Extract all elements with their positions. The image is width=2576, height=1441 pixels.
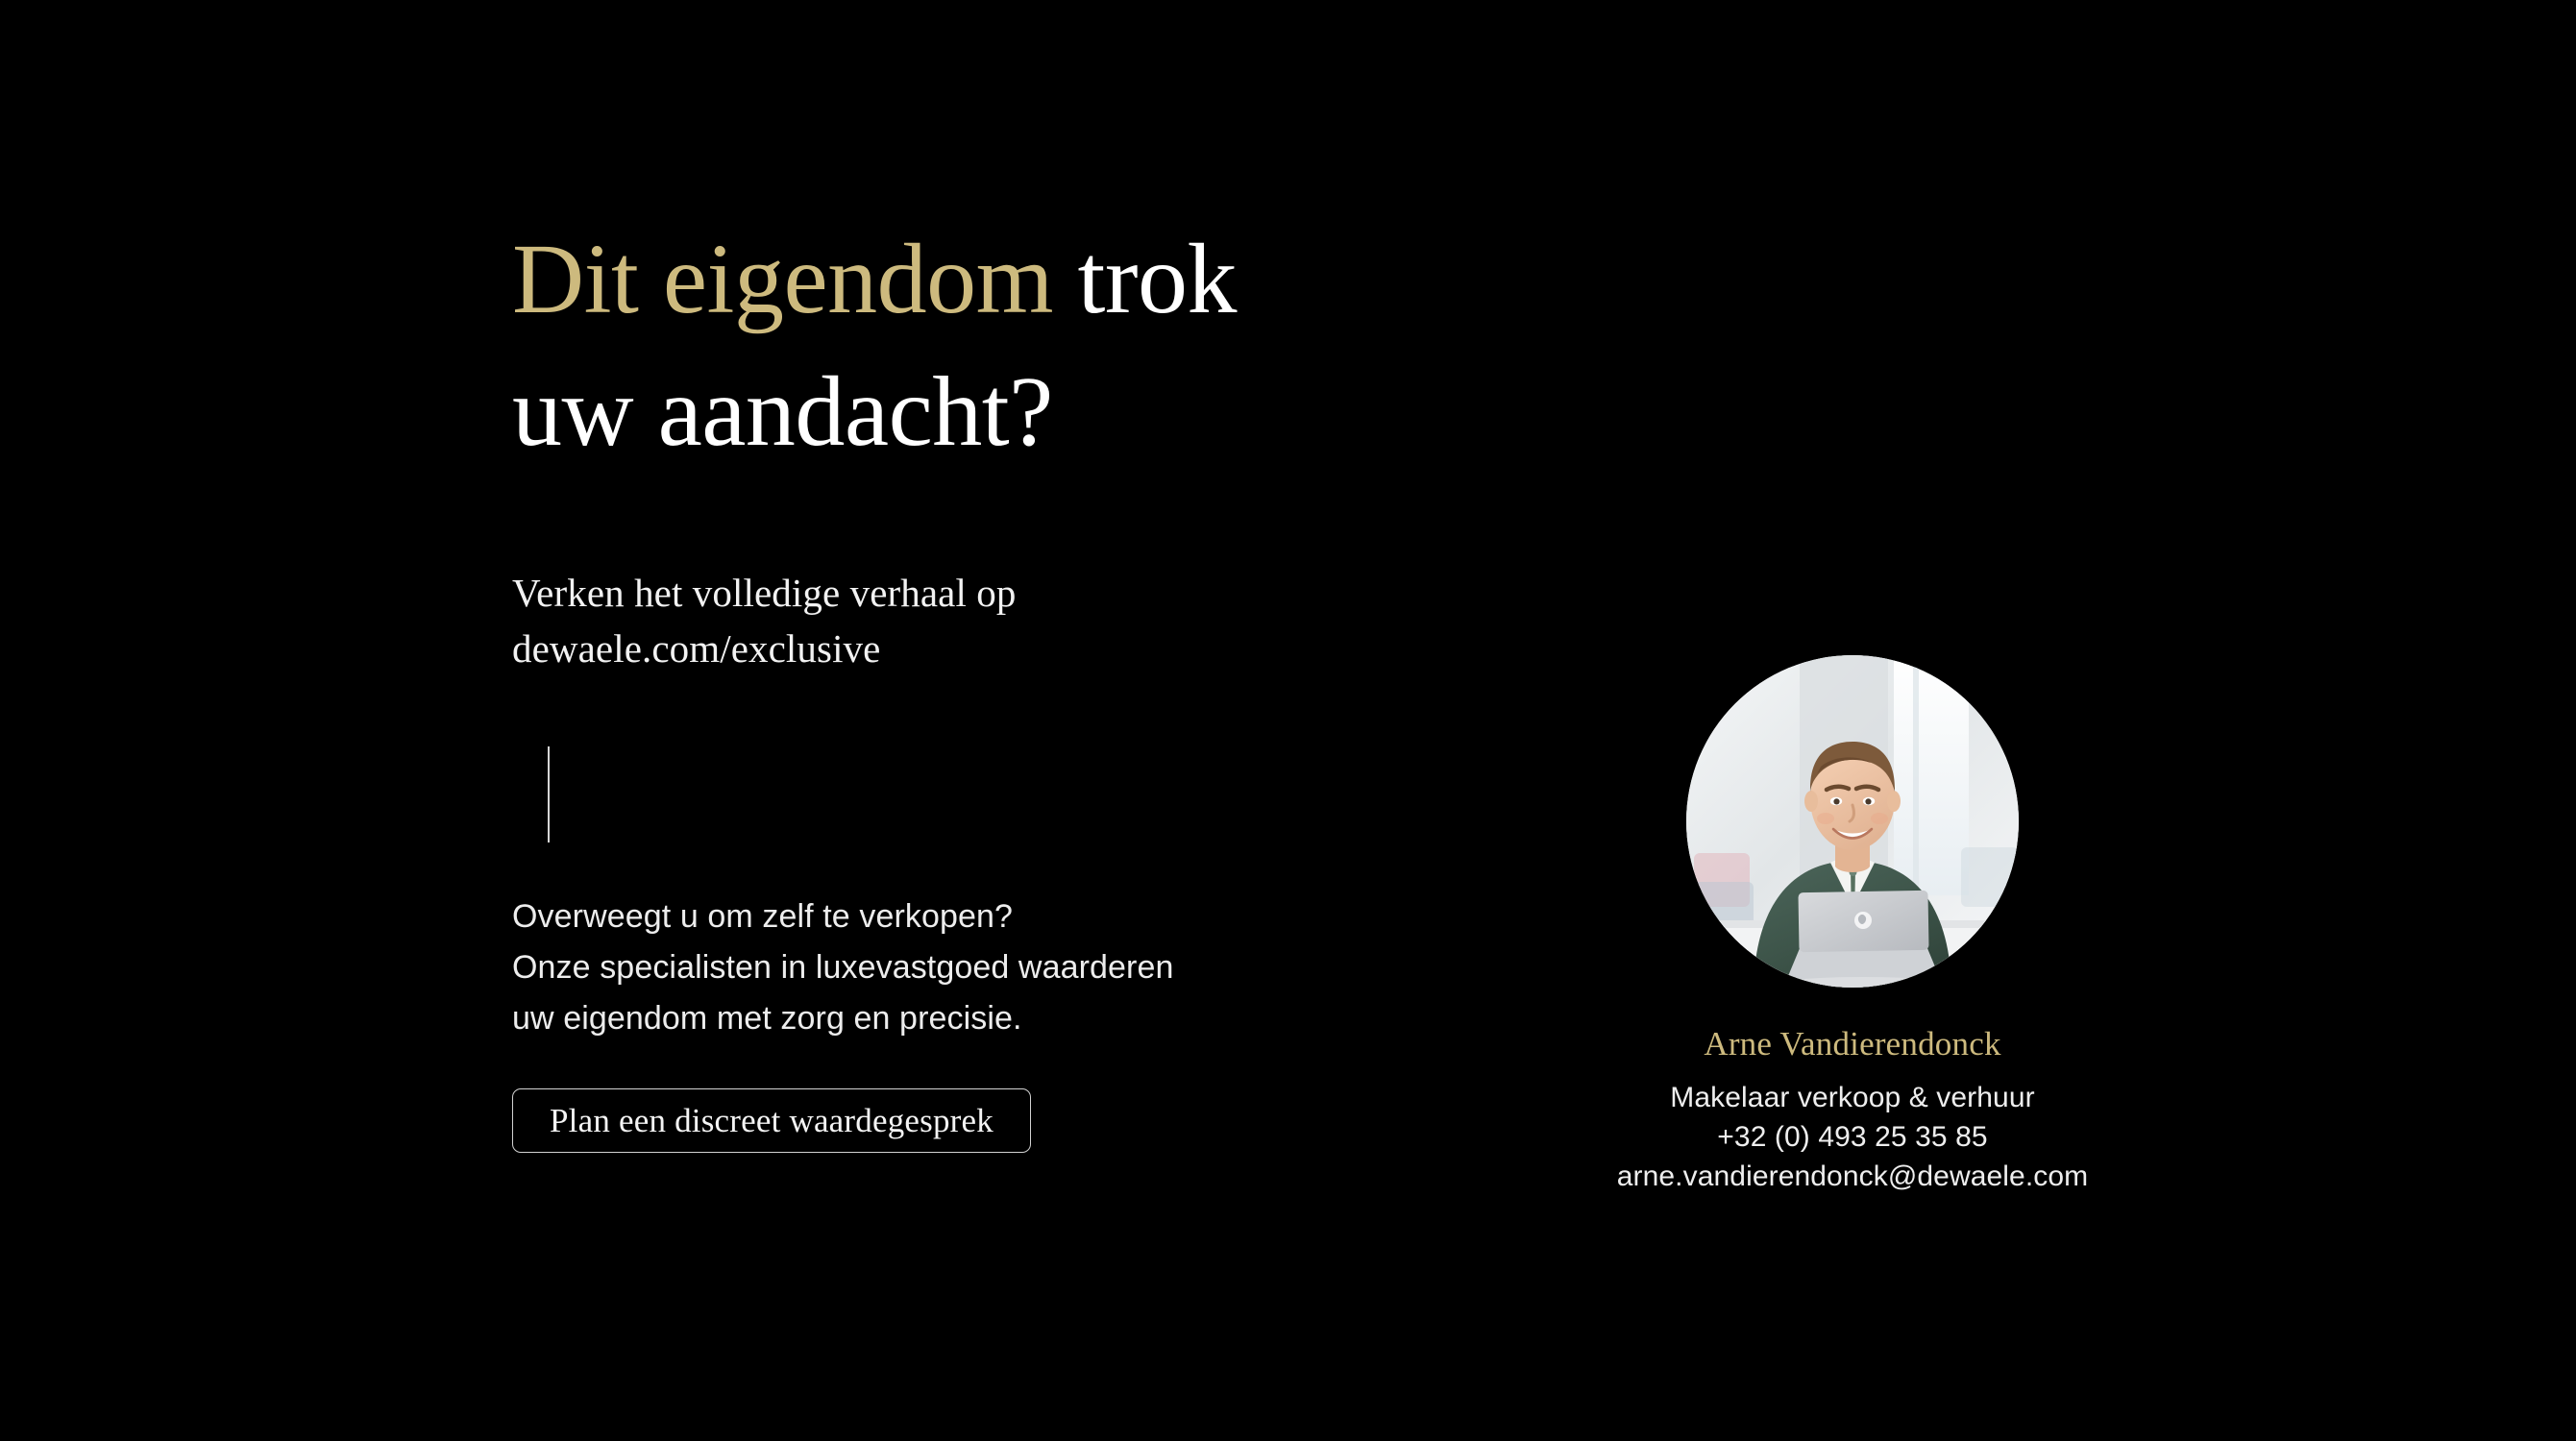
schedule-valuation-button[interactable]: Plan een discreet waardegesprek [512,1088,1031,1153]
headline-line-2: uw aandacht? [512,346,1646,478]
page-canvas: Dit eigendom trok uw aandacht? Verken he… [0,0,2576,1441]
headline-block: Dit eigendom trok uw aandacht? [512,213,1646,479]
body-line-3: uw eigendom met zorg en precisie. [512,993,1173,1044]
page-title: Dit eigendom trok uw aandacht? [512,213,1646,479]
headline-plain-text: trok [1053,224,1237,334]
body-line-2: Onze specialisten in luxevastgoed waarde… [512,942,1173,993]
body-line-1: Overweegt u om zelf te verkopen? [512,891,1173,942]
agent-email[interactable]: arne.vandierendonck@dewaele.com [1576,1157,2129,1196]
agent-contact-block: Makelaar verkoop & verhuur +32 (0) 493 2… [1576,1078,2129,1196]
agent-name: Arne Vandierendonck [1576,1024,2129,1064]
headline-line-1: Dit eigendom trok [512,213,1646,346]
subtitle-line-1: Verken het volledige verhaal op [512,565,1017,621]
subtitle-line-2: dewaele.com/exclusive [512,621,1017,676]
subtitle-block: Verken het volledige verhaal op dewaele.… [512,565,1017,676]
agent-phone[interactable]: +32 (0) 493 25 35 85 [1576,1117,2129,1157]
body-copy-block: Overweegt u om zelf te verkopen? Onze sp… [512,891,1173,1044]
vertical-divider [548,746,550,843]
agent-card: Arne Vandierendonck Makelaar verkoop & v… [1576,655,2129,1196]
avatar [1686,655,2019,988]
agent-portrait-image [1686,655,2019,988]
agent-role: Makelaar verkoop & verhuur [1576,1078,2129,1117]
headline-accent-text: Dit eigendom [512,224,1053,334]
